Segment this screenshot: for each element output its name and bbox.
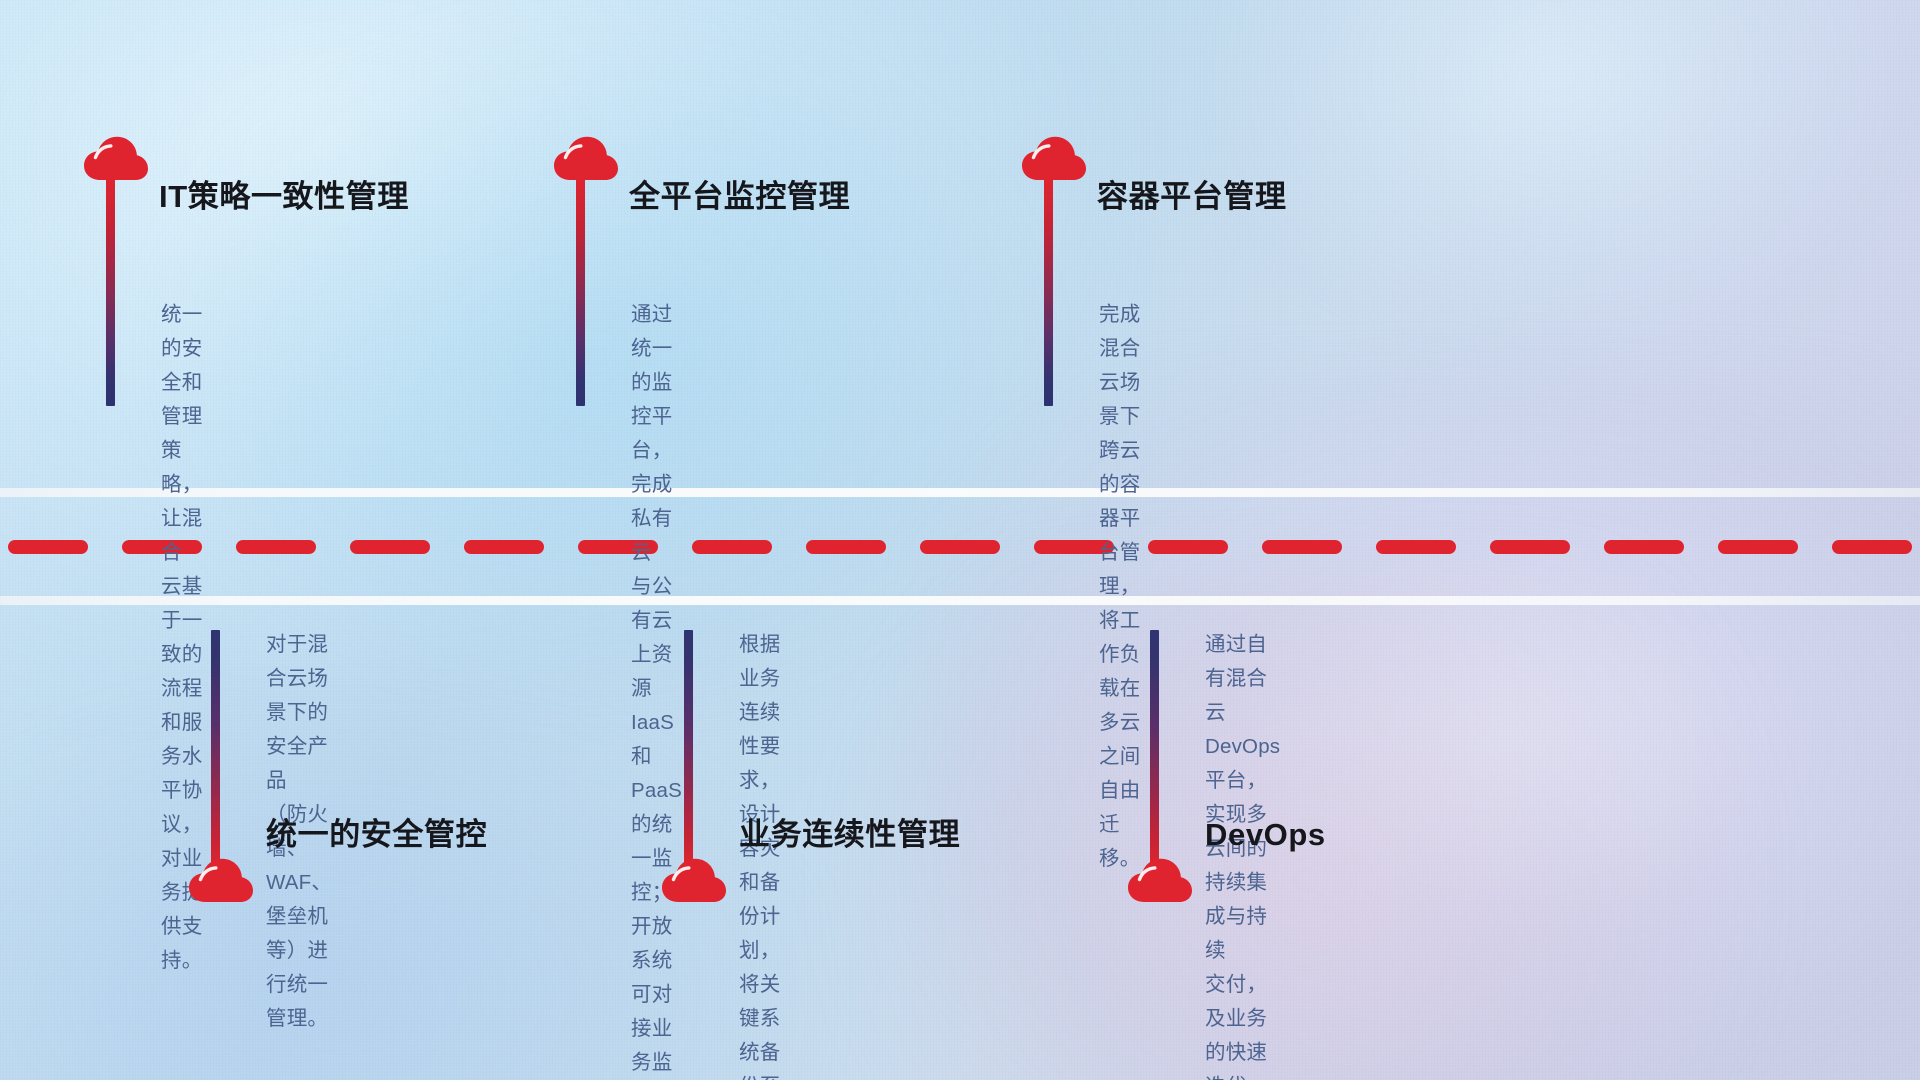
- divider-dash: [1262, 540, 1342, 554]
- divider-dash: [464, 540, 544, 554]
- divider-band: [0, 488, 1920, 606]
- connector-stem: [1150, 630, 1159, 870]
- divider-dash: [1376, 540, 1456, 554]
- divider-dash: [1604, 540, 1684, 554]
- divider-dash: [236, 540, 316, 554]
- connector-stem: [211, 630, 220, 870]
- card-body: 通过统一的监控平台，完成私有云 与公有云上资源IaaS和PaaS的统 一监控；开…: [631, 298, 682, 1080]
- card-body: 通过自有混合云DevOps平台， 实现多云间的持续集成与持续 交付，及业务的快速…: [1205, 628, 1280, 1080]
- infographic-canvas: IT策略一致性管理 统一的安全和管理策略，让混合 云基于一致的流程和服务水平协 …: [0, 0, 1920, 1080]
- connector-stem: [106, 176, 115, 406]
- card-body: 完成混合云场景下跨云的容器平 台管理，将工作负载在多云之间 自由迁移。: [1099, 298, 1140, 876]
- divider-dash: [350, 540, 430, 554]
- card-title: 容器平台管理: [1097, 178, 1287, 215]
- cloud-icon: [188, 858, 254, 904]
- cloud-icon: [1021, 136, 1087, 182]
- divider-dash: [1718, 540, 1798, 554]
- divider-dash: [1148, 540, 1228, 554]
- connector-stem: [1044, 176, 1053, 406]
- card-title: 统一的安全管控: [266, 816, 487, 853]
- card-title: 业务连续性管理: [739, 816, 960, 853]
- card-title: IT策略一致性管理: [159, 178, 409, 215]
- divider-dash: [8, 540, 88, 554]
- connector-stem: [576, 176, 585, 406]
- cloud-icon: [661, 858, 727, 904]
- divider-dash: [1832, 540, 1912, 554]
- divider-dash: [806, 540, 886, 554]
- card-title: DevOps: [1205, 816, 1326, 853]
- divider-dash: [920, 540, 1000, 554]
- divider-dash: [692, 540, 772, 554]
- card-body: 根据业务连续性要求，设计容灾 和备份计划，将关键系统备份至 线上/线下，并定期校…: [739, 628, 780, 1080]
- card-title: 全平台监控管理: [629, 178, 850, 215]
- divider-rail-top: [0, 488, 1920, 497]
- divider-dashed-line: [0, 540, 1920, 554]
- cloud-icon: [1127, 858, 1193, 904]
- connector-stem: [684, 630, 693, 870]
- cloud-icon: [83, 136, 149, 182]
- cloud-icon: [553, 136, 619, 182]
- divider-dash: [1490, 540, 1570, 554]
- divider-rail-bottom: [0, 596, 1920, 605]
